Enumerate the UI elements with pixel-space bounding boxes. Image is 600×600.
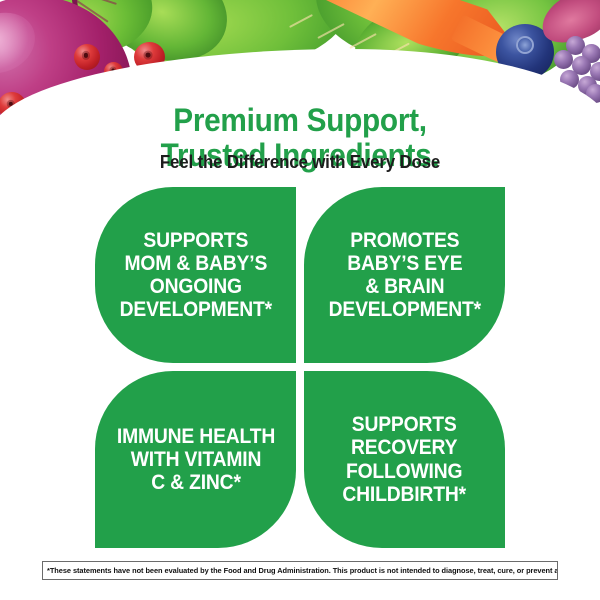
carrot-ridge-icon [384, 43, 410, 58]
beet-greens-icon [0, 0, 112, 34]
benefit-line: BABY’S EYE [347, 252, 462, 275]
benefit-card-eye-brain-development: PROMOTES BABY’S EYE & BRAIN DEVELOPMENT* [304, 187, 505, 363]
page-subtitle: Feel the Difference with Every Dose [18, 152, 582, 173]
benefit-card-label: SUPPORTS MOM & BABY’S ONGOING DEVELOPMEN… [119, 229, 271, 321]
benefit-line: MOM & BABY’S [124, 252, 267, 275]
leaf-vein-icon [69, 0, 108, 23]
leafy-greens-icon [86, 0, 238, 74]
benefit-line: FOLLOWING [346, 460, 462, 483]
benefit-line: PROMOTES [350, 229, 459, 252]
carrot-ridge-icon [349, 33, 376, 49]
carrot-tip-icon [451, 14, 550, 81]
benefit-card-immune-health: IMMUNE HEALTH WITH VITAMIN C & ZINC* [95, 371, 296, 548]
benefit-card-label: IMMUNE HEALTH WITH VITAMIN C & ZINC* [116, 425, 274, 494]
benefit-card-label: SUPPORTS RECOVERY FOLLOWING CHILDBIRTH* [343, 413, 467, 505]
broccoli-icon [311, 0, 532, 73]
cranberry-icon [104, 62, 123, 81]
cranberry-icon [134, 42, 165, 72]
fda-disclaimer: *These statements have not been evaluate… [42, 561, 558, 580]
promo-poster: Premium Support, Trusted Ingredients. Fe… [0, 0, 600, 600]
benefit-line: C & ZINC* [151, 471, 241, 494]
beet-greens-icon [20, 0, 158, 62]
benefit-line: ONGOING [149, 275, 241, 298]
benefit-line: DEVELOPMENT* [119, 298, 271, 321]
carrot-ridge-icon [289, 14, 313, 28]
blueberry-crown-icon [516, 36, 534, 54]
carrot-ridge-icon [317, 23, 344, 39]
benefit-card-label: PROMOTES BABY’S EYE & BRAIN DEVELOPMENT* [328, 229, 480, 321]
leafy-greens-icon [343, 0, 480, 94]
benefit-line: DEVELOPMENT* [328, 298, 480, 321]
cranberry-icon [74, 44, 100, 70]
benefit-line: IMMUNE HEALTH [116, 425, 274, 448]
benefit-line: CHILDBIRTH* [343, 483, 467, 506]
beet-stem-icon [69, 0, 80, 22]
purple-leaf-icon [534, 0, 600, 53]
benefit-card-recovery-childbirth: SUPPORTS RECOVERY FOLLOWING CHILDBIRTH* [304, 371, 505, 548]
benefit-line: SUPPORTS [143, 229, 248, 252]
headline-line-1: Premium Support, [173, 102, 426, 138]
benefit-line: WITH VITAMIN [130, 448, 261, 471]
benefit-line: & BRAIN [365, 275, 444, 298]
leaf-vein-icon [61, 0, 117, 5]
beet-stem-icon [48, 0, 61, 24]
benefit-line: RECOVERY [351, 436, 457, 459]
broccoli-icon [421, 0, 589, 98]
benefit-card-ongoing-development: SUPPORTS MOM & BABY’S ONGOING DEVELOPMEN… [95, 187, 296, 363]
cranberry-icon [0, 122, 4, 144]
benefit-line: SUPPORTS [352, 413, 457, 436]
carrot-icon [245, 0, 523, 80]
blueberry-icon [496, 24, 554, 80]
beet-highlight-icon [0, 2, 45, 84]
leafy-greens-icon [113, 0, 357, 84]
benefit-card-grid: SUPPORTS MOM & BABY’S ONGOING DEVELOPMEN… [95, 187, 505, 548]
